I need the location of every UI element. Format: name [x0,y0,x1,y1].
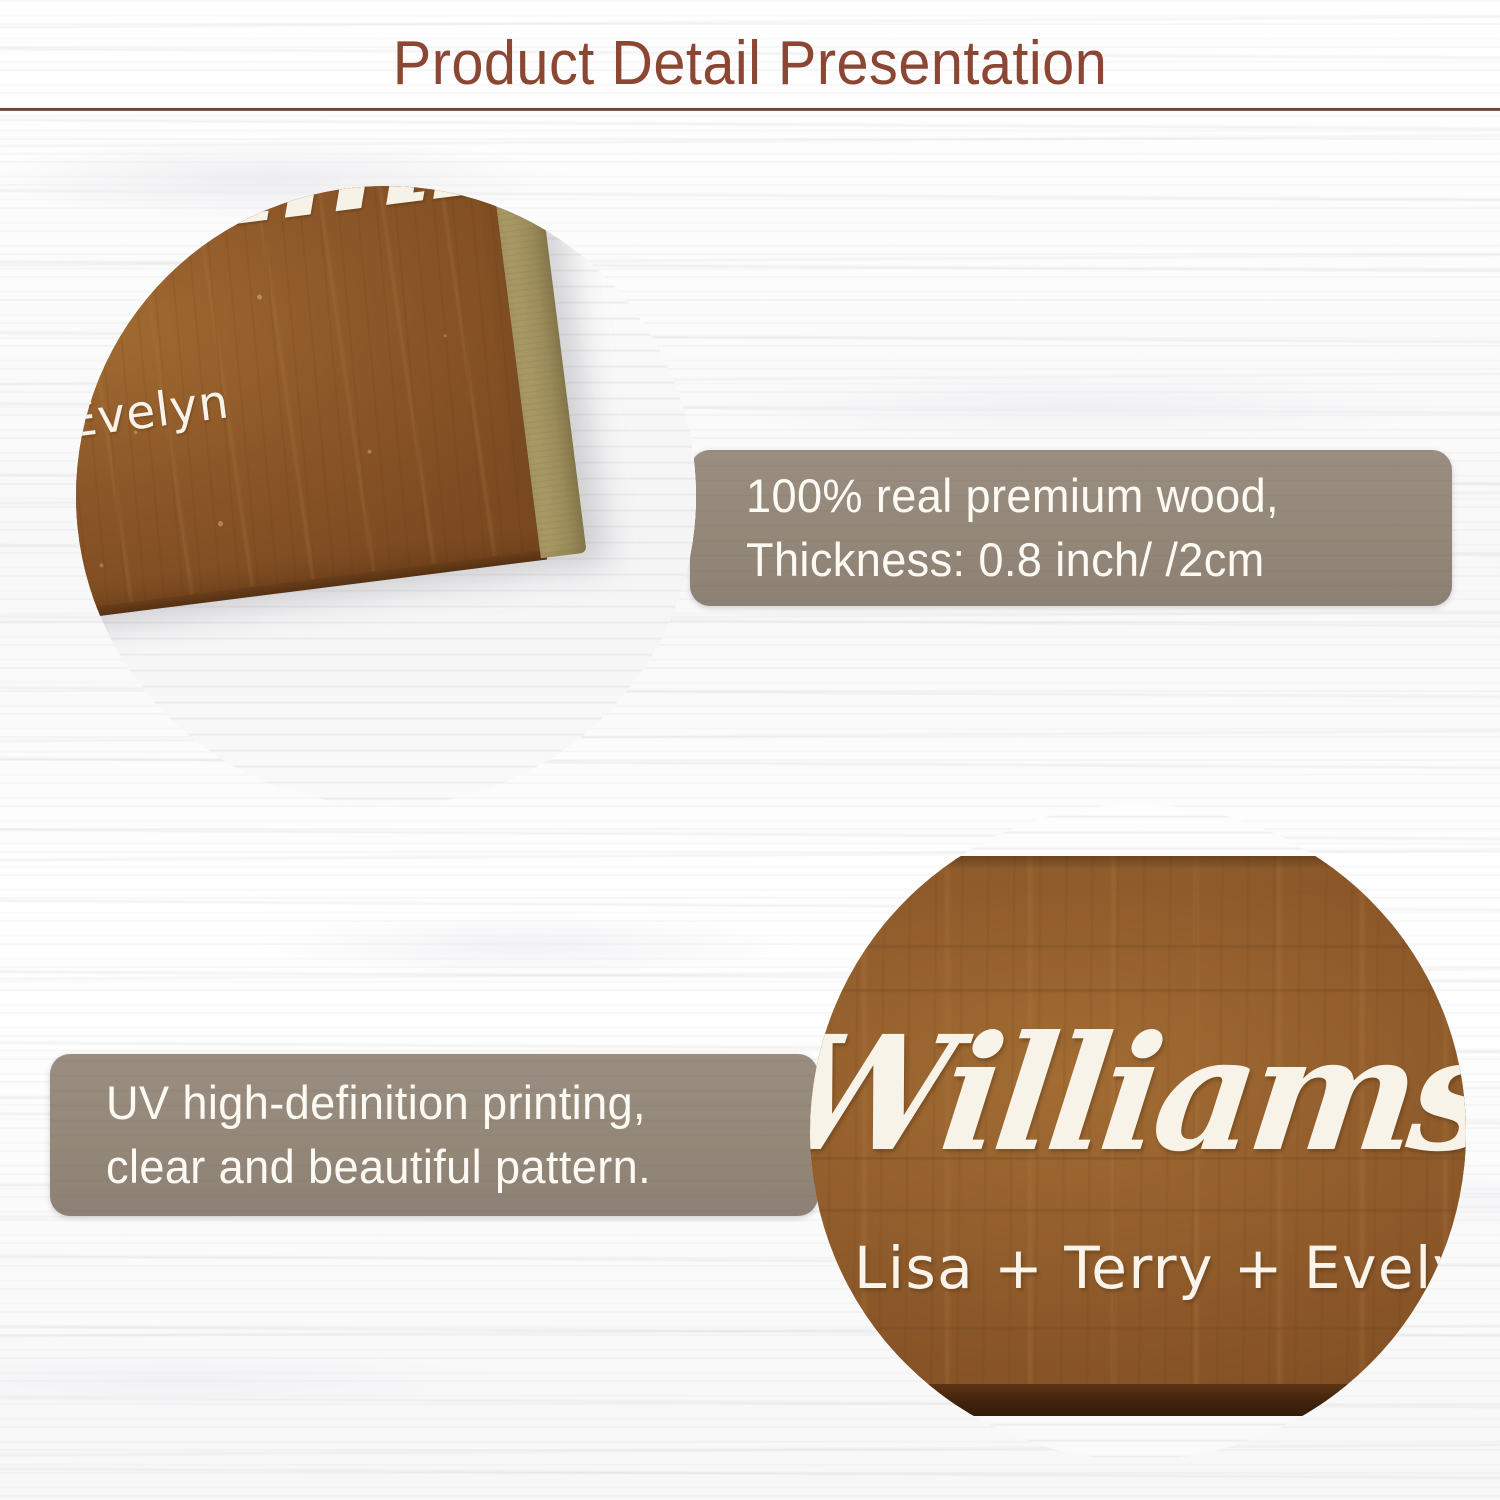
callout-thickness-line-1: 100% real premium wood, [746,464,1424,528]
page-header: Product Detail Presentation [0,0,1500,111]
product-detail-page: Product Detail Presentation 100% real pr… [0,0,1500,1500]
callout-thickness-line-2: Thickness: 0.8 inch/ /2cm [746,528,1424,592]
sign-names-text: y + Evelyn [76,374,232,462]
callout-printing: UV high-definition printing, clear and b… [50,1054,818,1216]
photo-detail-print-closeup: Williams Fa + Lisa + Terry + Evelyn [810,804,1466,1460]
wood-sign-top-shadow [810,856,1466,870]
sign-names-text: + Lisa + Terry + Evelyn [810,1234,1466,1302]
wood-grain-line [810,1208,1466,1213]
wood-grain-line [810,1326,1466,1331]
page-title: Product Detail Presentation [53,28,1448,99]
callout-printing-line-1: UV high-definition printing, [106,1071,790,1135]
photo-detail-board-edge: family y + Evelyn [76,186,696,806]
photo-detail-board-edge-inner: family y + Evelyn [76,186,696,806]
wood-grain-line [810,944,1466,949]
sign-script-text: Williams Fa [810,1002,1466,1187]
header-divider [0,108,1500,111]
callout-printing-line-2: clear and beautiful pattern. [106,1135,790,1199]
callout-thickness: 100% real premium wood, Thickness: 0.8 i… [690,450,1452,606]
wood-grain-line [810,988,1466,993]
photo-detail-print-closeup-inner: Williams Fa + Lisa + Terry + Evelyn [810,804,1466,1460]
wood-sign-closeup-face: Williams Fa + Lisa + Terry + Evelyn [810,856,1466,1416]
wood-sign-bottom-edge [810,1384,1466,1416]
